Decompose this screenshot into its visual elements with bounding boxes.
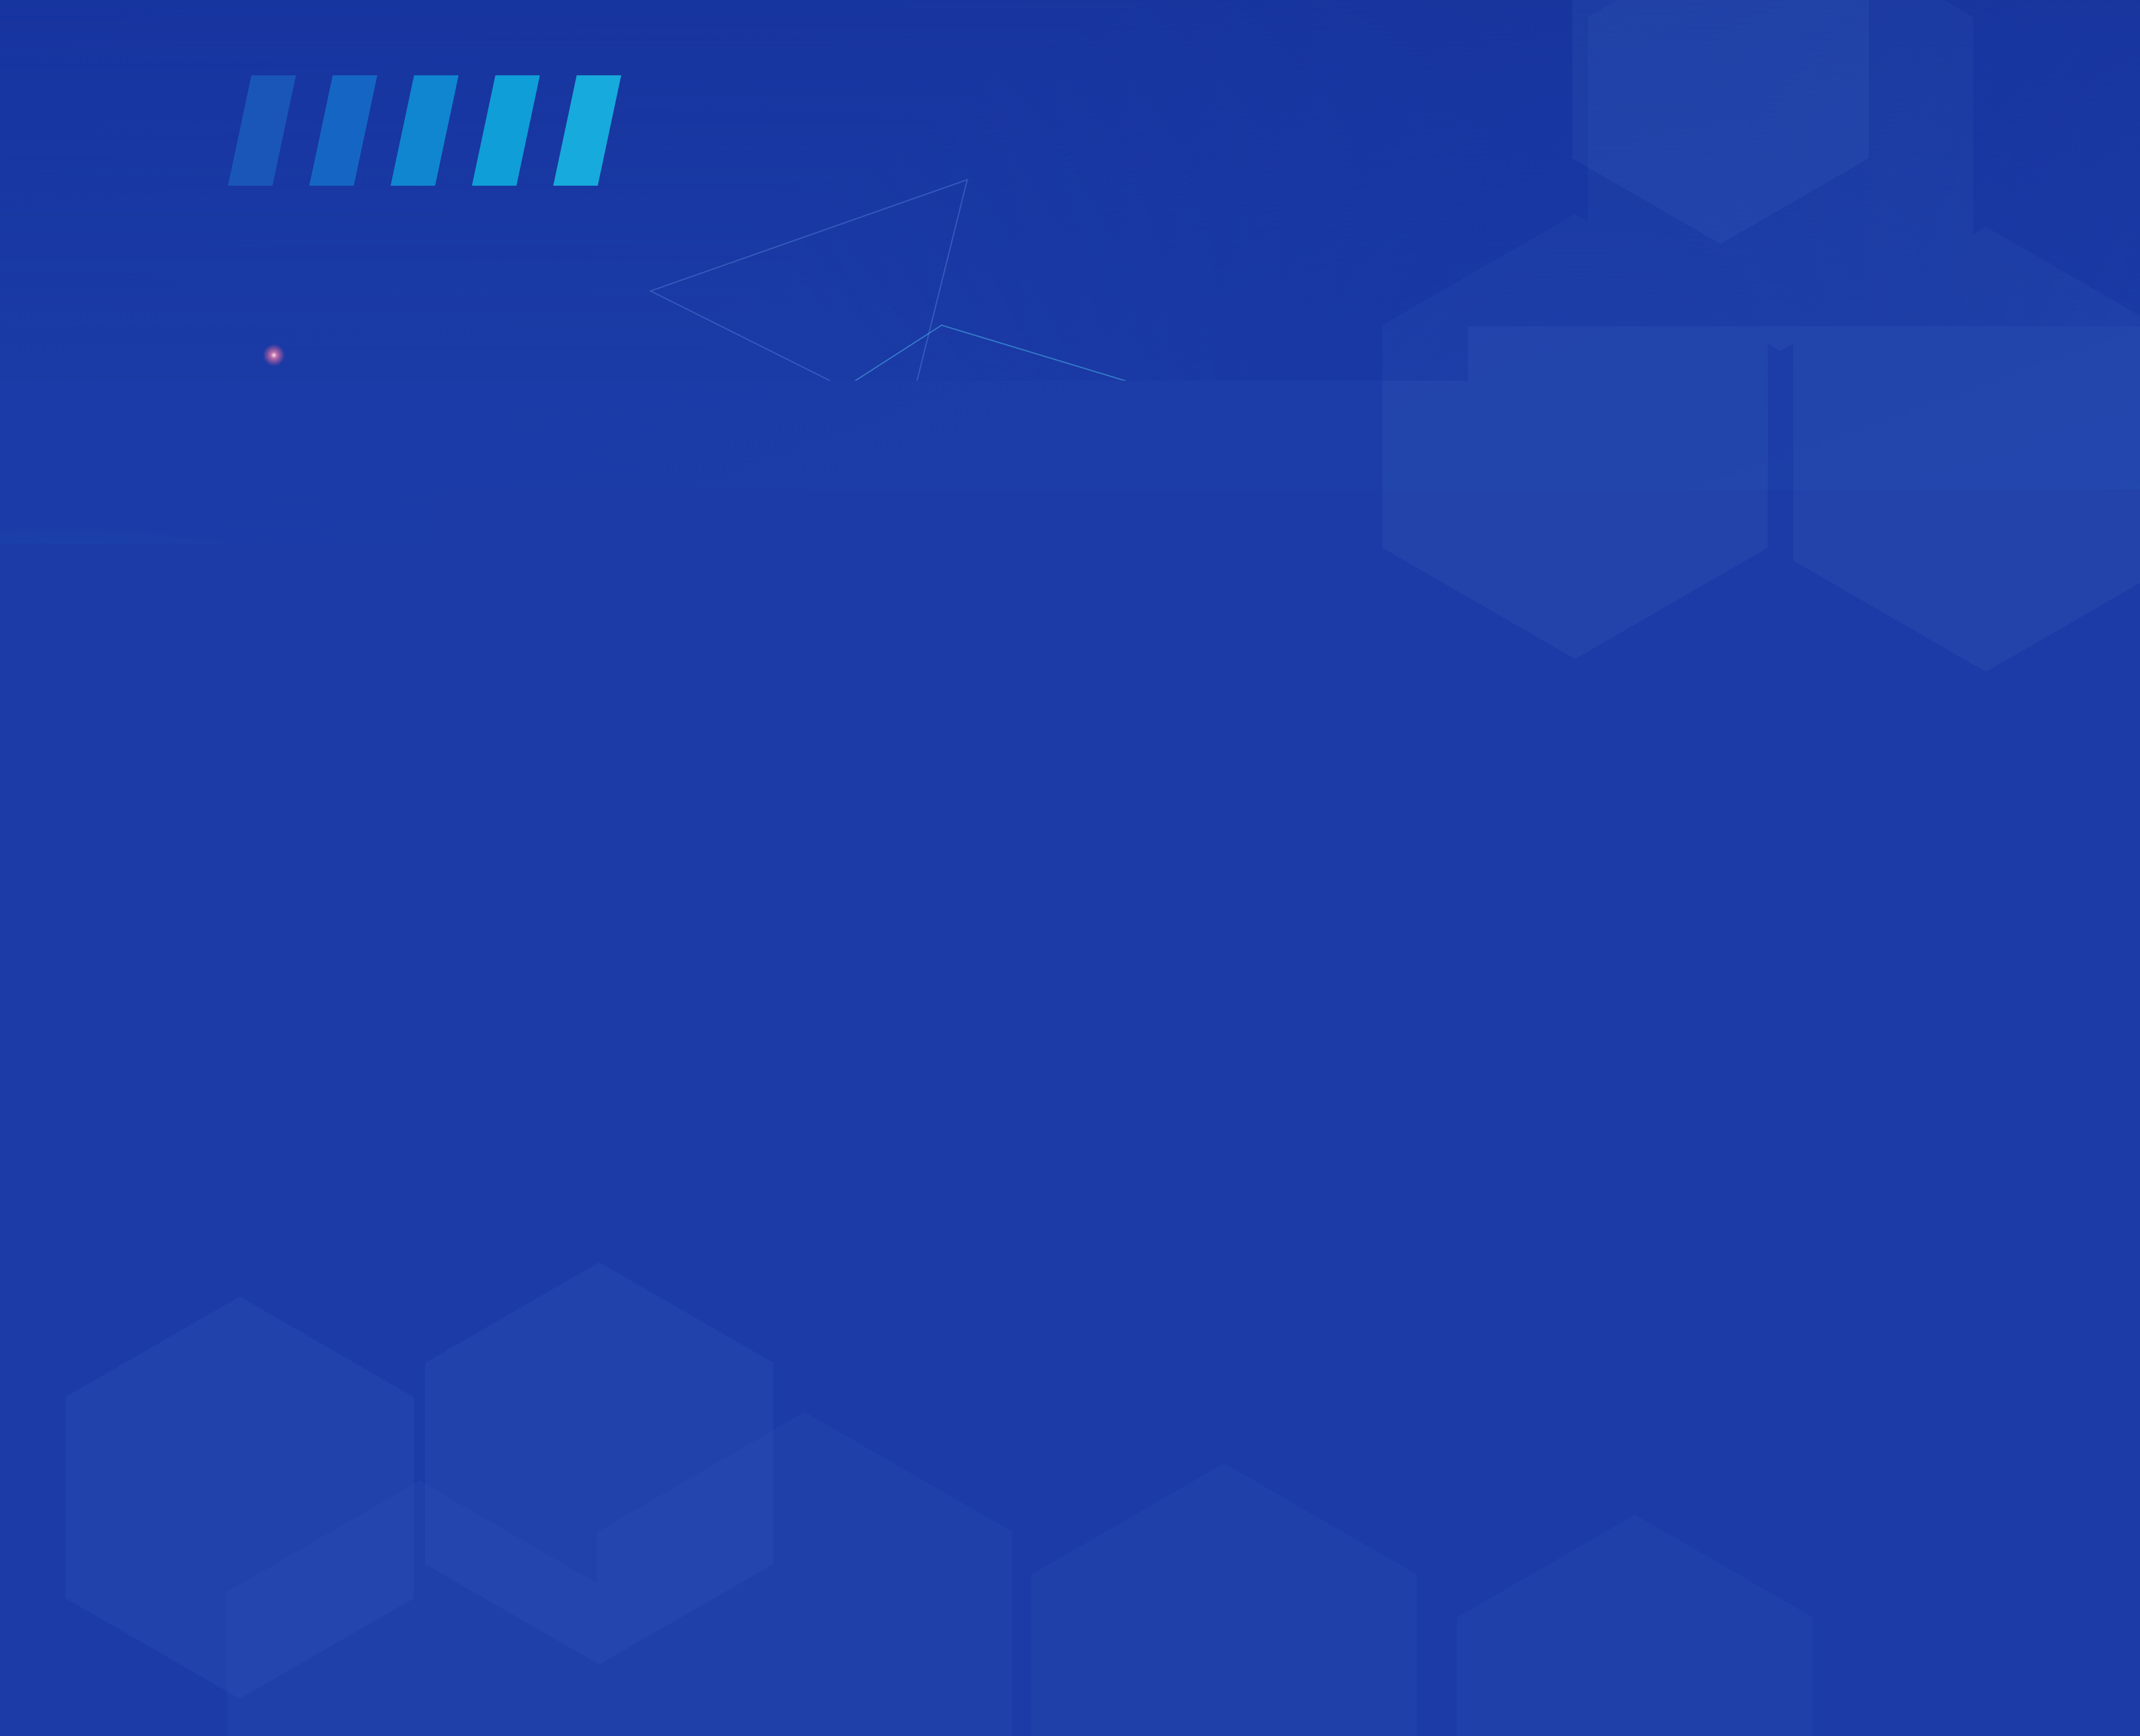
logo-brand-part2: techPack	[1358, 1359, 1898, 1467]
logo-brand-part1: Bi	[1139, 1359, 1256, 1467]
company-name-cn: 北京百泰派克生物科技有限公司	[1060, 1563, 1977, 1627]
tagline-rule-arrow-icon	[1093, 1496, 1470, 1502]
title-line-2: LFQ与同位素标记策略	[0, 650, 2140, 786]
slide-title: 蛋白质组定量中的 LFQ与同位素标记策略	[0, 496, 2140, 786]
dna-ring-icon	[1258, 1364, 1355, 1462]
logo-wordmark: Bi	[1139, 1356, 1897, 1470]
title-line-1: 蛋白质组定量中的	[0, 496, 2140, 632]
company-logo: Bi	[0, 1356, 2140, 1627]
logo-tagline-row: SCIENTIFIC	[1093, 1467, 1944, 1531]
logo-tagline: SCIENTIFIC	[1491, 1467, 1790, 1531]
presentation-cover-slide: 蛋白质组定量中的 LFQ与同位素标记策略 Bi	[0, 0, 2140, 1736]
